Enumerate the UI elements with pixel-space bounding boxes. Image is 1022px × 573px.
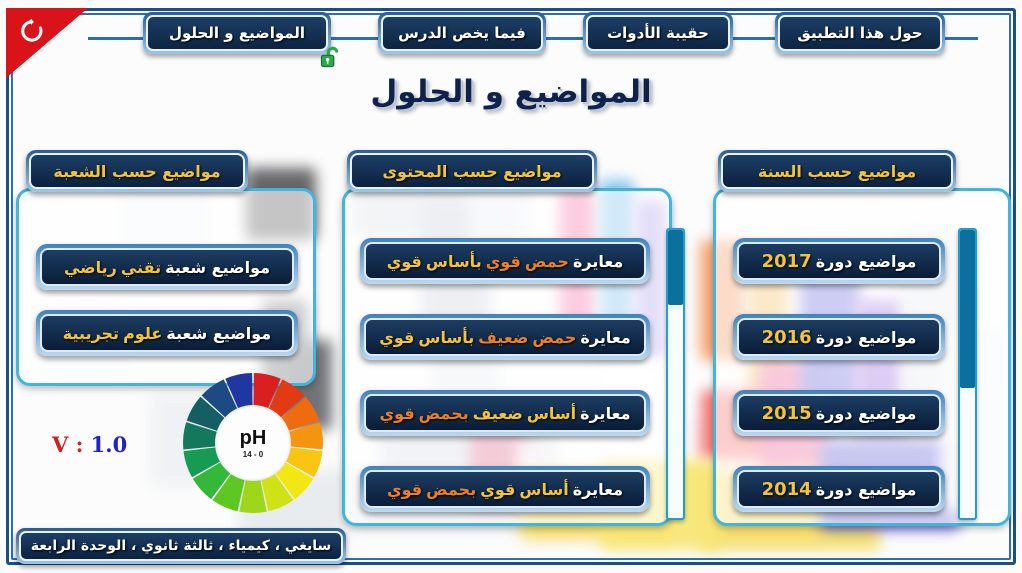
nav-tab-label: حقيبة الأدوات	[586, 15, 730, 51]
label-part: بأساس	[426, 252, 482, 271]
list-item-label: معايرةأساسضعيفبحمضقوي	[364, 394, 646, 432]
list-item[interactable]: معايرةأساسقويبحمضقوي	[360, 466, 650, 512]
version-number: 1.0	[91, 432, 128, 457]
column-header-label: مواضيع حسب الشعبة	[29, 153, 245, 189]
label-part: 2017	[762, 251, 812, 272]
column-header-by-stream: مواضيع حسب الشعبة	[26, 150, 248, 192]
label-part: معايرة	[580, 404, 630, 423]
list-item[interactable]: معايرةحمضقويبأساسقوي	[360, 238, 650, 284]
label-part: مواضيع دورة	[816, 328, 917, 347]
footer-bar: سايغي ، كيمياء ، ثالثة ثانوي ، الوحدة ال…	[16, 528, 346, 564]
unlock-icon[interactable]	[318, 44, 344, 70]
ph-label: pH	[240, 428, 267, 448]
label-part: 2016	[762, 327, 812, 348]
scrollbar-thumb[interactable]	[668, 230, 683, 305]
label-part: مواضيع دورة	[816, 480, 917, 499]
label-part: 2014	[762, 479, 812, 500]
label-part: مواضيع شعبة	[165, 258, 270, 277]
label-part: علوم	[123, 324, 162, 343]
list-item[interactable]: مواضيع شعبةعلومتجريبية	[36, 310, 298, 356]
list-item-label: مواضيع دورة2014	[737, 470, 941, 508]
column-header-by-content: مواضيع حسب المحتوى	[347, 150, 597, 192]
ph-color-wheel: 01234567891011121314 pH 0 - 14	[182, 372, 324, 514]
version-label: V : 1.0	[52, 432, 127, 457]
label-part: ضعيف	[473, 404, 523, 423]
list-item-label: معايرةحمضضعيفبأساسقوي	[364, 318, 646, 356]
label-part: مواضيع دورة	[816, 404, 917, 423]
label-part: بأساس	[418, 328, 474, 347]
nav-tab-3[interactable]: حول هذا التطبيق	[775, 12, 945, 54]
label-part: قوي	[387, 480, 422, 499]
label-part: قوي	[486, 252, 521, 271]
list-item-label: معايرةحمضقويبأساسقوي	[364, 242, 646, 280]
label-part: قوي	[387, 252, 422, 271]
list-item-label: مواضيع شعبةعلومتجريبية	[40, 314, 294, 352]
label-part: قوي	[480, 480, 515, 499]
column-by-content: مواضيع حسب المحتوىمعايرةحمضقويبأساسقويمع…	[342, 150, 672, 526]
nav-tab-0[interactable]: المواضيع و الحلول	[143, 12, 331, 54]
label-part: مواضيع دورة	[816, 252, 917, 271]
label-part: تجريبية	[63, 324, 119, 343]
nav-tab-2[interactable]: حقيبة الأدوات	[583, 12, 733, 54]
column-header-label: مواضيع حسب المحتوى	[350, 153, 594, 189]
column-header-label: مواضيع حسب السنة	[721, 153, 953, 189]
label-part: معايرة	[573, 252, 623, 271]
list-item-label: مواضيع شعبةتقنيرياضي	[40, 248, 294, 286]
label-part: قوي	[380, 404, 415, 423]
nav-tab-1[interactable]: فيما يخص الدرس	[378, 12, 546, 54]
label-part: 2015	[762, 403, 812, 424]
label-part: أساس	[519, 480, 568, 499]
list-item-label: معايرةأساسقويبحمضقوي	[364, 470, 646, 508]
label-part: مواضيع شعبة	[166, 324, 271, 343]
label-part: معايرة	[573, 480, 623, 499]
label-part: حمض	[525, 252, 569, 271]
list-item-label: مواضيع دورة2017	[737, 242, 941, 280]
list-item[interactable]: مواضيع دورة2017	[733, 238, 945, 284]
ph-wheel-hub: pH 0 - 14	[215, 405, 291, 481]
nav-tab-label: فيما يخص الدرس	[381, 15, 543, 51]
label-part: حمض	[532, 328, 576, 347]
label-part: أساس	[527, 404, 576, 423]
scrollbar-by-content[interactable]	[666, 228, 685, 520]
label-part: بحمض	[419, 404, 469, 423]
list-item[interactable]: معايرةحمضضعيفبأساسقوي	[360, 314, 650, 360]
list-item-label: مواضيع دورة2015	[737, 394, 941, 432]
label-part: معايرة	[580, 328, 630, 347]
list-item[interactable]: مواضيع دورة2014	[733, 466, 945, 512]
nav-tab-label: المواضيع و الحلول	[146, 15, 328, 51]
app-window: المواضيع و الحلولفيما يخص الدرسحقيبة الأ…	[0, 0, 1022, 573]
version-prefix: V :	[52, 432, 83, 457]
label-part: تقني	[121, 258, 161, 277]
column-by-stream: مواضيع حسب الشعبةمواضيع شعبةتقنيرياضيموا…	[16, 150, 316, 386]
list-item[interactable]: معايرةأساسضعيفبحمضقوي	[360, 390, 650, 436]
label-part: ضعيف	[478, 328, 528, 347]
page-title: المواضيع و الحلول	[0, 74, 1022, 110]
column-header-by-year: مواضيع حسب السنة	[718, 150, 956, 192]
scrollbar-thumb[interactable]	[960, 230, 975, 388]
label-part: رياضي	[64, 258, 117, 277]
ph-range: 0 - 14	[243, 450, 263, 459]
label-part: قوي	[379, 328, 414, 347]
list-item-label: مواضيع دورة2016	[737, 318, 941, 356]
top-navigation: المواضيع و الحلولفيما يخص الدرسحقيبة الأ…	[0, 8, 1022, 60]
list-item[interactable]: مواضيع شعبةتقنيرياضي	[36, 244, 298, 290]
list-item[interactable]: مواضيع دورة2016	[733, 314, 945, 360]
scrollbar-by-year[interactable]	[958, 228, 977, 520]
list-item[interactable]: مواضيع دورة2015	[733, 390, 945, 436]
footer-label: سايغي ، كيمياء ، ثالثة ثانوي ، الوحدة ال…	[19, 531, 343, 561]
nav-tab-label: حول هذا التطبيق	[778, 15, 942, 51]
label-part: بحمض	[426, 480, 476, 499]
